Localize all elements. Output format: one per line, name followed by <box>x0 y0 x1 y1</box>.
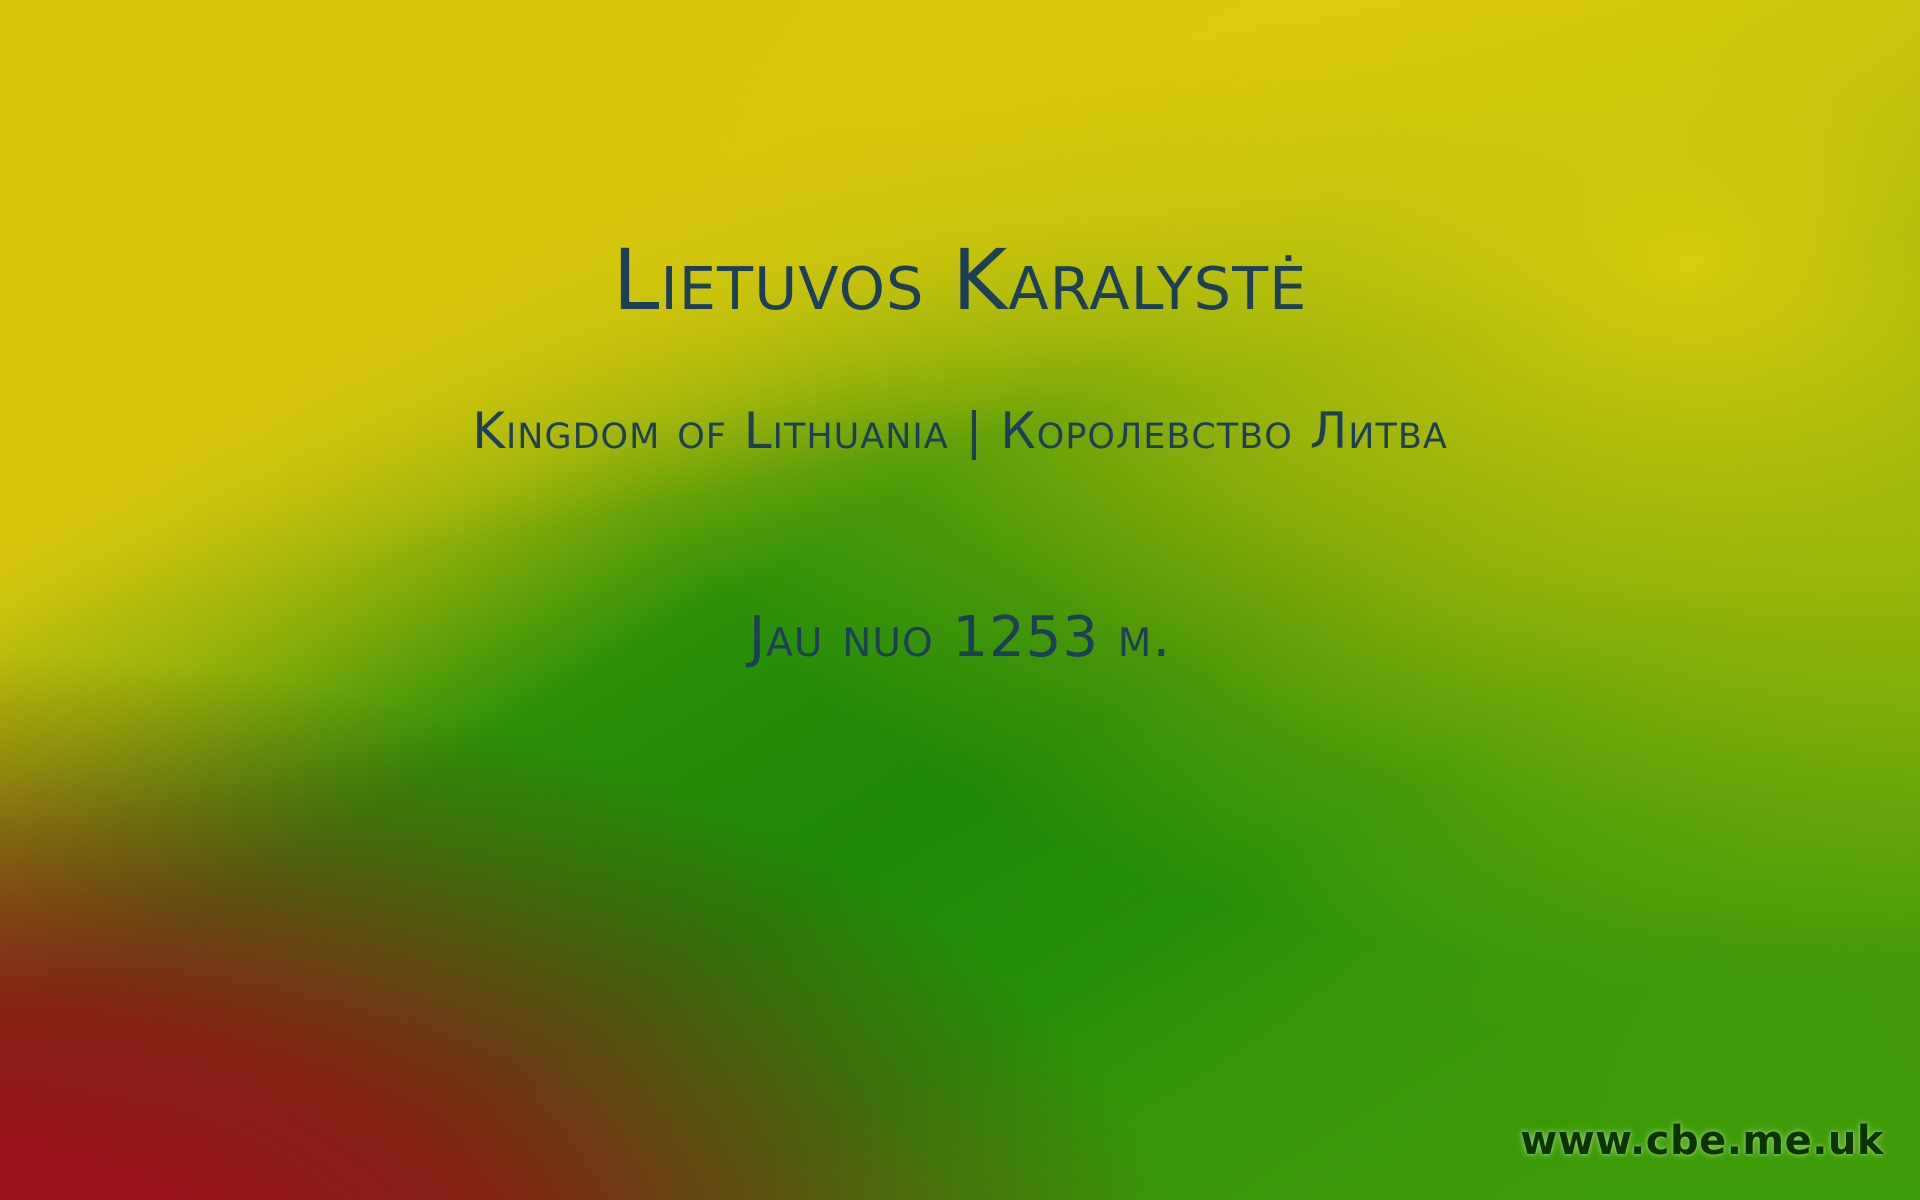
year-suffix-label: m. <box>1099 605 1171 670</box>
founding-year-line: Jau nuo 1253 m. <box>0 607 1920 669</box>
slide-content: Lietuvos Karalystė Kingdom of Lithuania … <box>0 0 1920 1200</box>
year-value: 1253 <box>952 605 1099 670</box>
slide-canvas: Lietuvos Karalystė Kingdom of Lithuania … <box>0 0 1920 1200</box>
page-subtitle: Kingdom of Lithuania | Королевство Литва <box>0 404 1920 459</box>
year-prefix-label: Jau nuo <box>749 605 953 670</box>
watermark-url: www.cbe.me.uk <box>1520 1118 1884 1164</box>
page-title: Lietuvos Karalystė <box>0 236 1920 325</box>
